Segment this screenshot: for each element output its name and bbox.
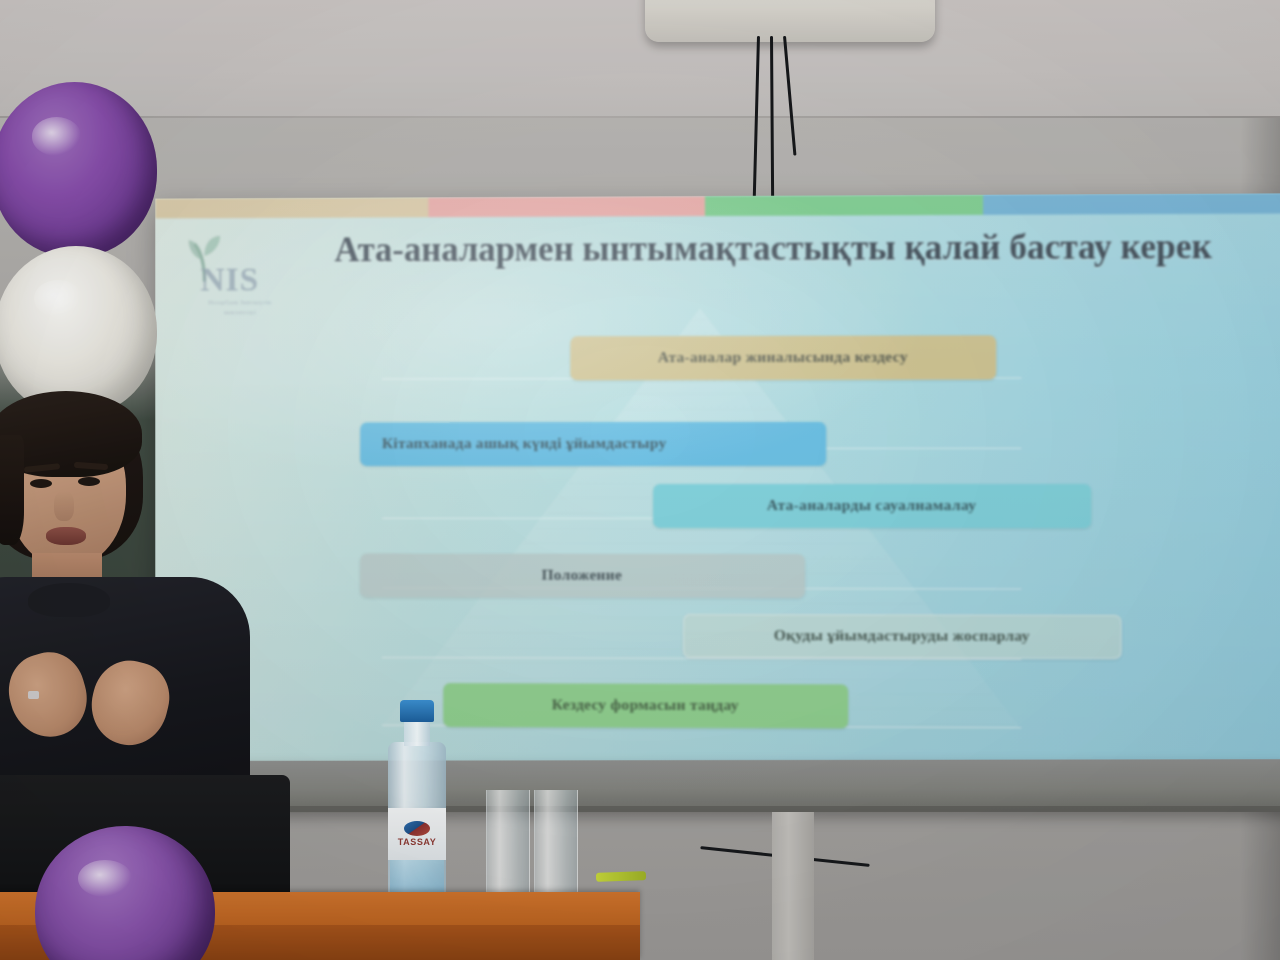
ring — [28, 691, 39, 699]
nis-wordmark: NIS — [200, 262, 259, 300]
bottle-brand: TASSAY — [398, 837, 437, 847]
header-segment-blue — [983, 193, 1280, 214]
funnel-step-4: Положение — [360, 554, 805, 599]
classroom-presentation-photo: NIS Назарбаев Зияткерлік мектептері Ата-… — [0, 0, 1280, 960]
header-segment-green — [705, 195, 983, 216]
ceiling — [0, 0, 1280, 120]
bottle-cap — [400, 700, 434, 722]
marker-pen — [596, 871, 646, 882]
balloon-purple-top — [0, 82, 157, 257]
funnel-step-6: Кездесу формасын таңдау — [443, 683, 848, 728]
hair-side — [0, 435, 24, 545]
nis-logo: NIS Назарбаев Зияткерлік мектептері — [177, 232, 280, 341]
funnel-step-5: Оқуды ұйымдастыруды жоспарлау — [683, 614, 1122, 659]
nose — [54, 491, 74, 521]
funnel-step-3: Ата-аналарды сауалнамалау — [653, 484, 1091, 528]
drinking-glass — [534, 790, 578, 895]
projection-screen: NIS Назарбаев Зияткерлік мектептері Ата-… — [155, 193, 1280, 768]
balloon-white — [0, 246, 157, 416]
projected-slide: NIS Назарбаев Зияткерлік мектептері Ата-… — [155, 193, 1280, 768]
drinking-glass — [486, 790, 530, 895]
tassay-logo-icon — [404, 821, 430, 836]
bottle-neck — [404, 720, 430, 746]
collar — [28, 583, 110, 617]
slide-title: Ата-аналармен ынтымақтастықты қалай баст… — [293, 224, 1254, 274]
mouth — [46, 527, 86, 545]
ledge-support-post — [772, 812, 814, 960]
slide-header-strip — [155, 193, 1280, 218]
bottle-label: TASSAY — [388, 808, 446, 860]
eye-left — [30, 479, 52, 488]
header-segment-pink — [429, 196, 705, 217]
ledge-edge — [145, 806, 1280, 812]
funnel-step-1: Ата-аналар жиналысында кездесу — [570, 335, 996, 380]
ceiling-projector — [645, 0, 935, 42]
whiteboard-ledge — [149, 759, 1280, 812]
funnel-step-2: Кітапханада ашық күнді ұйымдастыру — [360, 422, 826, 466]
eye-right — [78, 477, 100, 486]
header-segment-tan — [155, 197, 428, 218]
nis-subtext: Назарбаев Зияткерлік мектептері — [200, 297, 279, 317]
water-bottle: TASSAY — [386, 700, 448, 905]
